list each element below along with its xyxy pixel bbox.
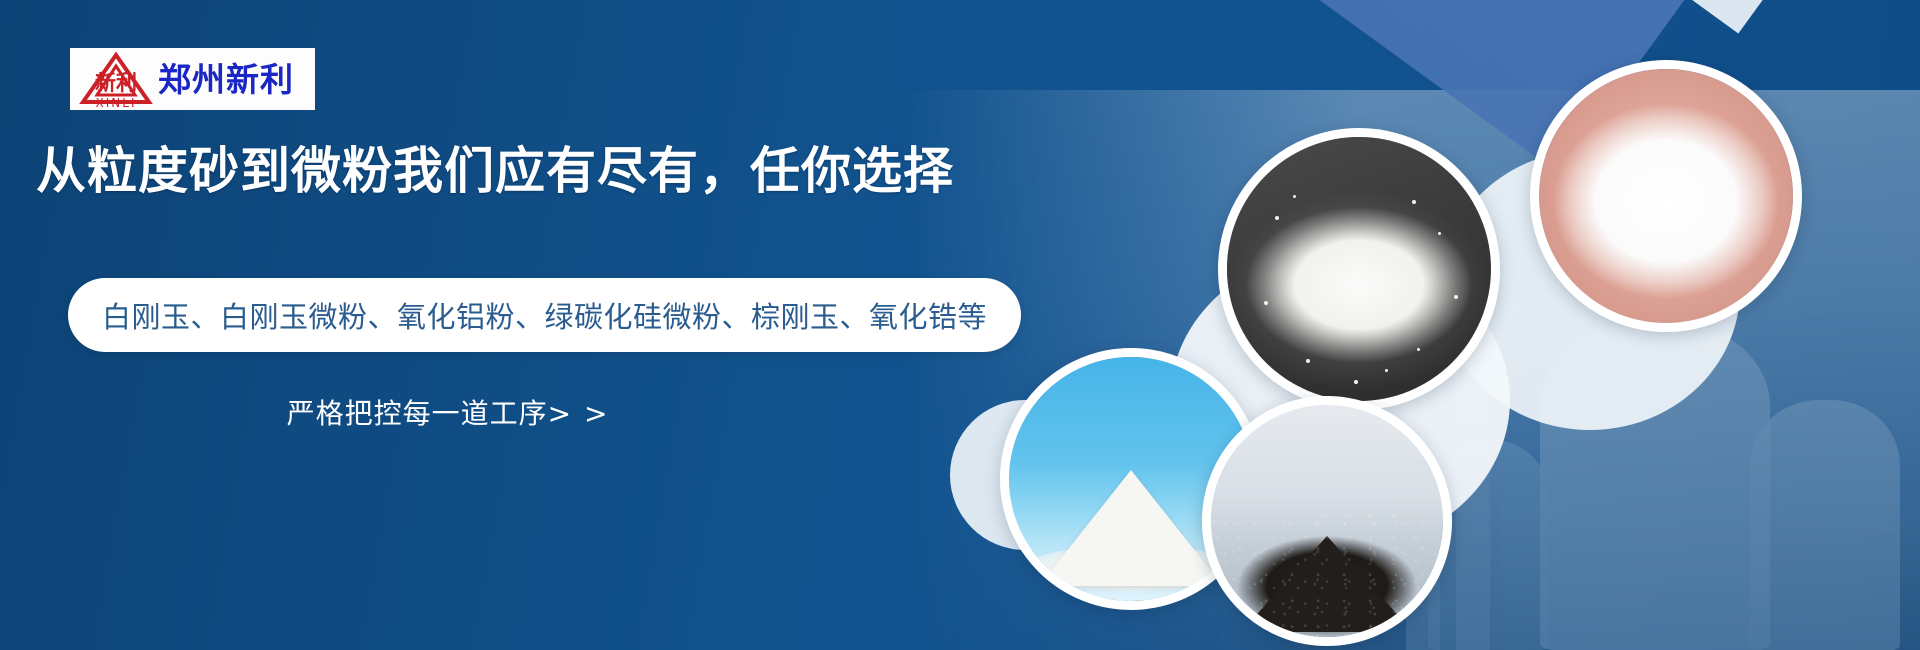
product-image-white-powder-on-pink-plate[interactable] (1530, 60, 1802, 332)
headline: 从粒度砂到微粉我们应有尽有，任你选择 (36, 144, 954, 199)
cooling-tower (1750, 400, 1900, 650)
svg-text:新利: 新利 (95, 71, 137, 95)
company-logo[interactable]: 新利 XINLI 郑州新利 (70, 48, 315, 110)
product-image-1-content (1227, 137, 1491, 401)
product-list-pill[interactable]: 白刚玉、白刚玉微粉、氧化铝粉、绿碳化硅微粉、棕刚玉、氧化锆等 (68, 278, 1021, 352)
product-image-2-content (1539, 69, 1793, 323)
cta-label: 严格把控每一道工序 (287, 397, 548, 430)
powder-cone (1039, 470, 1223, 586)
product-image-white-grit-on-dark-tray[interactable] (1218, 128, 1500, 410)
svg-text:XINLI: XINLI (96, 96, 137, 108)
grit-texture (1211, 502, 1443, 637)
promo-banner: 新利 XINLI 郑州新利 从粒度砂到微粉我们应有尽有，任你选择 白刚玉、白刚玉… (0, 0, 1920, 650)
cta-arrow-icon: > > (548, 397, 610, 430)
xinli-triangle-emblem-icon: 新利 XINLI (78, 50, 154, 108)
product-image-4-content (1211, 405, 1443, 637)
logo-company-name: 郑州新利 (158, 63, 294, 96)
product-list-text: 白刚玉、白刚玉微粉、氧化铝粉、绿碳化硅微粉、棕刚玉、氧化锆等 (102, 294, 987, 336)
product-image-black-grit-mound[interactable] (1202, 396, 1452, 646)
cta-link[interactable]: 严格把控每一道工序> > (68, 392, 828, 432)
